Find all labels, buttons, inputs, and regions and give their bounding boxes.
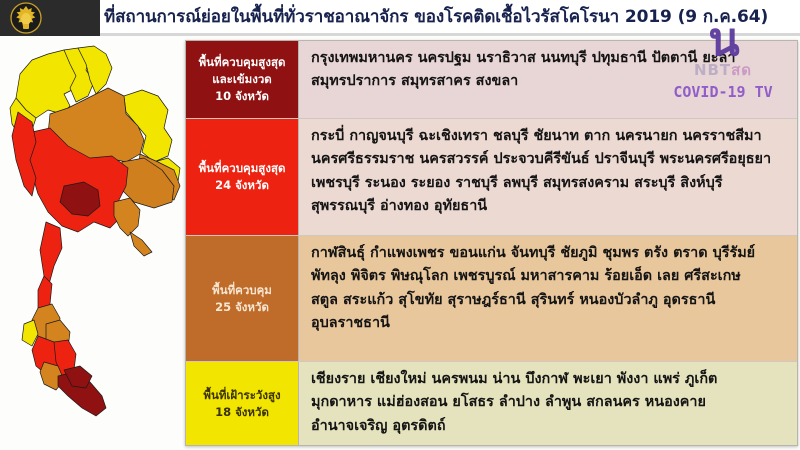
zone-count: 24 จังหวัด [215,177,269,194]
table-row: พื้นที่ควบคุม 25 จังหวัด กาฬสินธุ์ กำแพง… [186,236,797,362]
headline-divider [100,33,800,36]
province-list-cell-4: เชียงราย เชียงใหม่ นครพนม น่าน บึงกาฬ พะ… [299,362,797,445]
zone-name-line: พื้นที่ควบคุมสูงสุด [199,54,286,71]
province-line: กระบี่ กาญจนบุรี ฉะเชิงเทรา ชลบุรี ชัยนา… [311,125,787,148]
province-line: พัทลุง พิจิตร พิษณุโลก เพชรบูรณ์ มหาสารค… [311,265,787,288]
province-list-cell-3: กาฬสินธุ์ กำแพงเพชร ขอนแก่น จันทบุรี ชัย… [299,236,797,361]
page-title: ที่สถานการณ์ย่อยในพื้นที่ทั่วราชอาณาจักร… [104,3,768,30]
province-line: เชียงราย เชียงใหม่ นครพนม น่าน บึงกาฬ พะ… [311,368,787,391]
zone-name-line: พื้นที่ควบคุมสูงสุด [199,160,286,177]
province-line: สมุทรปราการ สมุทรสาคร สงขลา [311,70,787,93]
zone-count: 25 จังหวัด [215,299,269,316]
province-list-cell-2: กระบี่ กาญจนบุรี ฉะเชิงเทรา ชลบุรี ชัยนา… [299,119,797,235]
zone-count: 10 จังหวัด [215,88,269,105]
zone-label-cell-4: พื้นที่เฝ้าระวังสูง 18 จังหวัด [186,362,299,445]
province-line: อุบลราชธานี [311,312,787,335]
table-row: พื้นที่ควบคุมสูงสุด และเข้มงวด 10 จังหวั… [186,41,797,119]
garuda-emblem-icon [10,2,42,34]
zone-name-line: พื้นที่ควบคุม [212,282,272,299]
province-line: เพชรบุรี ระนอง ระยอง ราชบุรี ลพบุรี สมุท… [311,172,787,195]
province-line: มุกดาหาร แม่ฮ่องสอน ยโสธร ลำปาง ลำพูน สก… [311,391,787,414]
province-line: กาฬสินธุ์ กำแพงเพชร ขอนแก่น จันทบุรี ชัย… [311,242,787,265]
province-line: สตูล สระแก้ว สุโขทัย สุราษฎร์ธานี สุรินท… [311,289,787,312]
headline-strip: ที่สถานการณ์ย่อยในพื้นที่ทั่วราชอาณาจักร… [100,0,800,33]
province-list-cell-1: กรุงเทพมหานคร นครปฐม นราธิวาส นนทบุรี ปท… [299,41,797,118]
table-row: พื้นที่เฝ้าระวังสูง 18 จังหวัด เชียงราย … [186,362,797,445]
table-row: พื้นที่ควบคุมสูงสุด 24 จังหวัด กระบี่ กา… [186,119,797,236]
province-line: กรุงเทพมหานคร นครปฐม นราธิวาส นนทบุรี ปท… [311,47,787,70]
map-region-trat-orange [130,232,152,256]
zone-label-cell-2: พื้นที่ควบคุมสูงสุด 24 จังหวัด [186,119,299,235]
thailand-zone-map [2,36,188,448]
zone-name-line: และเข้มงวด [212,71,272,88]
zone-label-cell-3: พื้นที่ควบคุม 25 จังหวัด [186,236,299,361]
map-region-eastern-orange [114,198,140,236]
zone-count: 18 จังหวัด [215,404,269,421]
zone-table: พื้นที่ควบคุมสูงสุด และเข้มงวด 10 จังหวั… [185,40,798,446]
province-line: สุพรรณบุรี อ่างทอง อุทัยธานี [311,195,787,218]
zone-label-cell-1: พื้นที่ควบคุมสูงสุด และเข้มงวด 10 จังหวั… [186,41,299,118]
zone-name-line: พื้นที่เฝ้าระวังสูง [203,387,280,404]
province-line: อำนาจเจริญ อุตรดิตถ์ [311,415,787,438]
province-line: นครศรีธรรมราช นครสวรรค์ ประจวบคีรีขันธ์ … [311,148,787,171]
broadcast-screen: ที่สถานการณ์ย่อยในพื้นที่ทั่วราชอาณาจักร… [0,0,800,450]
